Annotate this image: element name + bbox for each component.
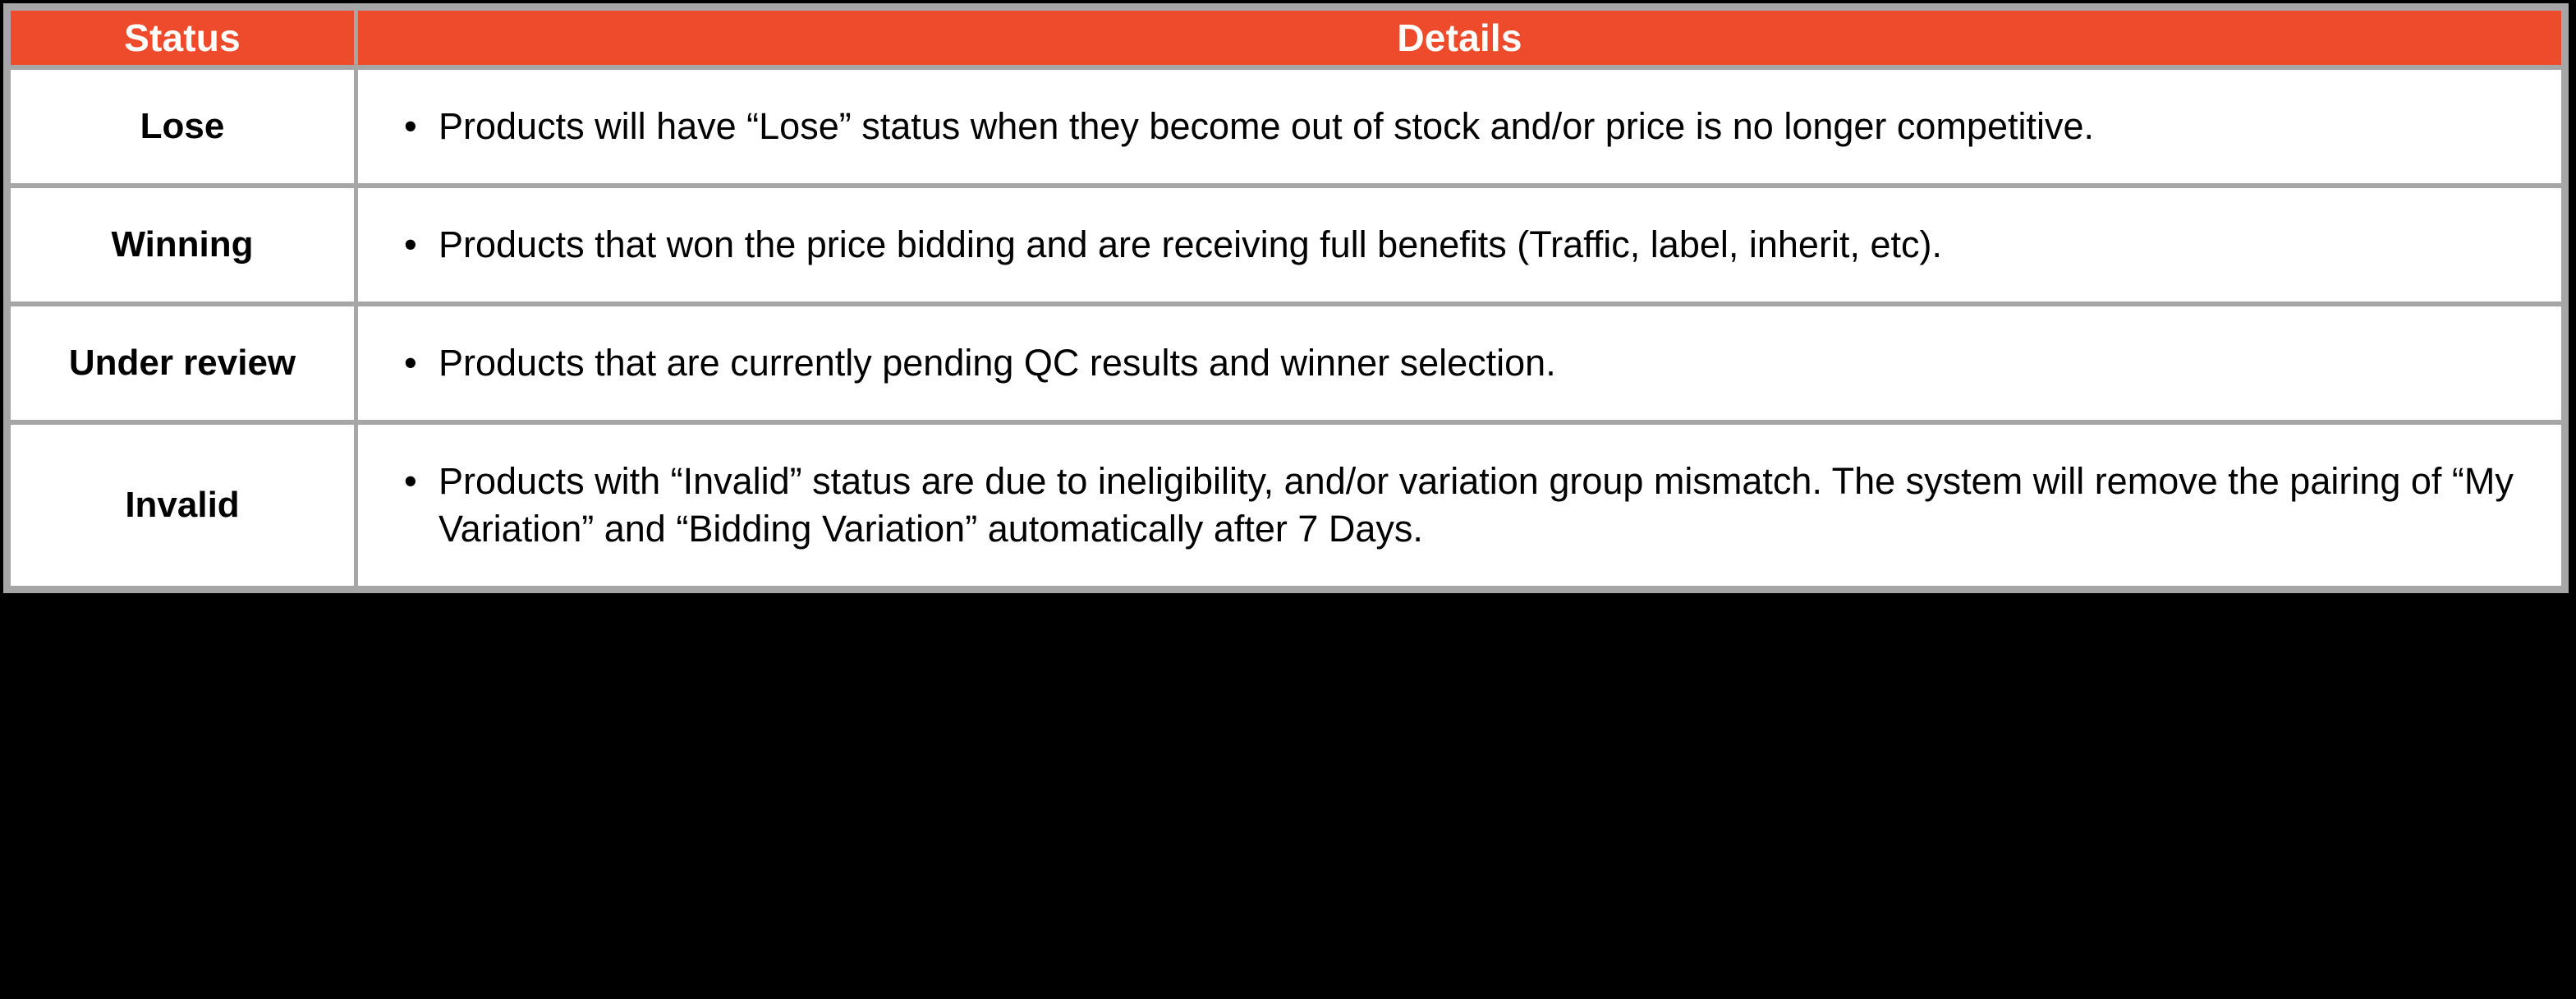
table-header-row: Status Details <box>7 7 2565 68</box>
detail-list: •Products that are currently pending QC … <box>393 339 2540 388</box>
detail-list: •Products will have “Lose” status when t… <box>393 103 2540 151</box>
detail-list: •Products with “Invalid” status are due … <box>393 458 2540 554</box>
details-cell-under-review: •Products that are currently pending QC … <box>356 304 2565 422</box>
column-header-details: Details <box>356 7 2565 68</box>
list-item: •Products with “Invalid” status are due … <box>393 458 2540 554</box>
table-row: Winning •Products that won the price bid… <box>7 186 2565 304</box>
table-row: Invalid •Products with “Invalid” status … <box>7 422 2565 590</box>
bullet-icon: • <box>404 103 417 151</box>
status-label-invalid: Invalid <box>7 422 356 590</box>
list-item-text: Products that won the price bidding and … <box>439 223 1942 265</box>
column-header-status: Status <box>7 7 356 68</box>
details-cell-winning: •Products that won the price bidding and… <box>356 186 2565 304</box>
status-label-under-review: Under review <box>7 304 356 422</box>
table-row: Lose •Products will have “Lose” status w… <box>7 67 2565 186</box>
bullet-icon: • <box>404 221 417 269</box>
table-row: Under review •Products that are currentl… <box>7 304 2565 422</box>
bullet-icon: • <box>404 458 417 506</box>
details-cell-lose: •Products will have “Lose” status when t… <box>356 67 2565 186</box>
list-item-text: Products that are currently pending QC r… <box>439 342 1556 384</box>
detail-list: •Products that won the price bidding and… <box>393 221 2540 269</box>
status-details-table: Status Details Lose •Products will have … <box>3 3 2569 593</box>
list-item-text: Products with “Invalid” status are due t… <box>439 460 2514 550</box>
bullet-icon: • <box>404 339 417 388</box>
list-item: •Products will have “Lose” status when t… <box>393 103 2540 151</box>
table-container: Status Details Lose •Products will have … <box>0 0 2576 999</box>
details-cell-invalid: •Products with “Invalid” status are due … <box>356 422 2565 590</box>
status-label-winning: Winning <box>7 186 356 304</box>
list-item-text: Products will have “Lose” status when th… <box>439 105 2094 147</box>
list-item: •Products that are currently pending QC … <box>393 339 2540 388</box>
list-item: •Products that won the price bidding and… <box>393 221 2540 269</box>
status-label-lose: Lose <box>7 67 356 186</box>
